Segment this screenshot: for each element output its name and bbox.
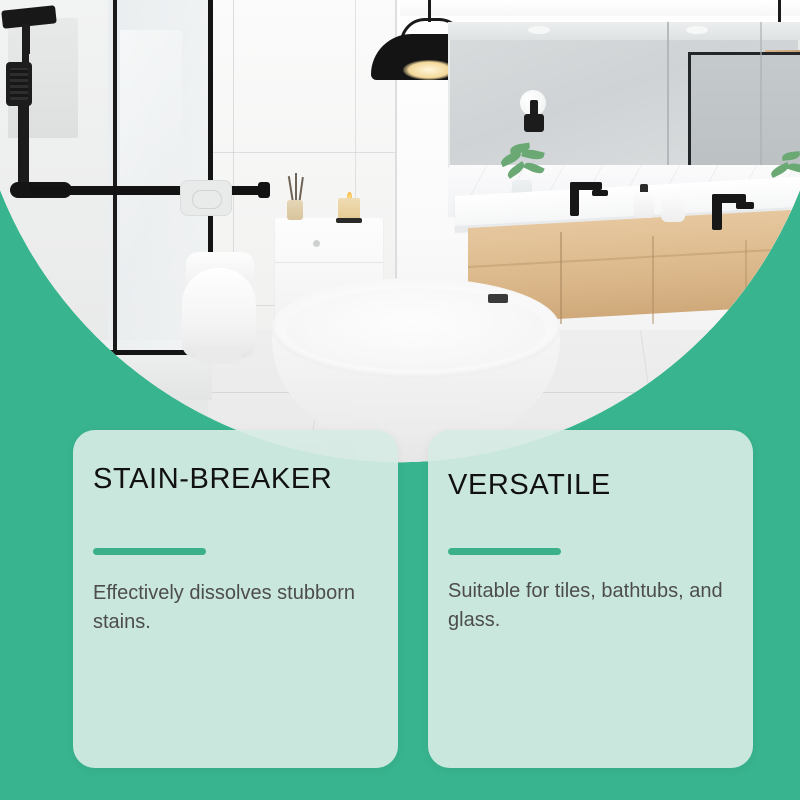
feature-card-versatile[interactable]: VERSATILE Suitable for tiles, bathtubs, … — [428, 430, 753, 768]
feature-card-title: VERSATILE — [448, 470, 733, 502]
accent-divider — [448, 548, 561, 555]
feature-card-body: Effectively dissolves stubborn stains. — [93, 579, 378, 637]
feature-card-stain-breaker[interactable]: STAIN-BREAKER Effectively dissolves stub… — [73, 430, 398, 768]
accent-divider — [93, 548, 206, 555]
feature-card-body: Suitable for tiles, bathtubs, and glass. — [448, 577, 733, 635]
feature-card-title: STAIN-BREAKER — [93, 464, 378, 496]
feature-cards: STAIN-BREAKER Effectively dissolves stub… — [0, 0, 800, 800]
promo-graphic: STAIN-BREAKER Effectively dissolves stub… — [0, 0, 800, 800]
